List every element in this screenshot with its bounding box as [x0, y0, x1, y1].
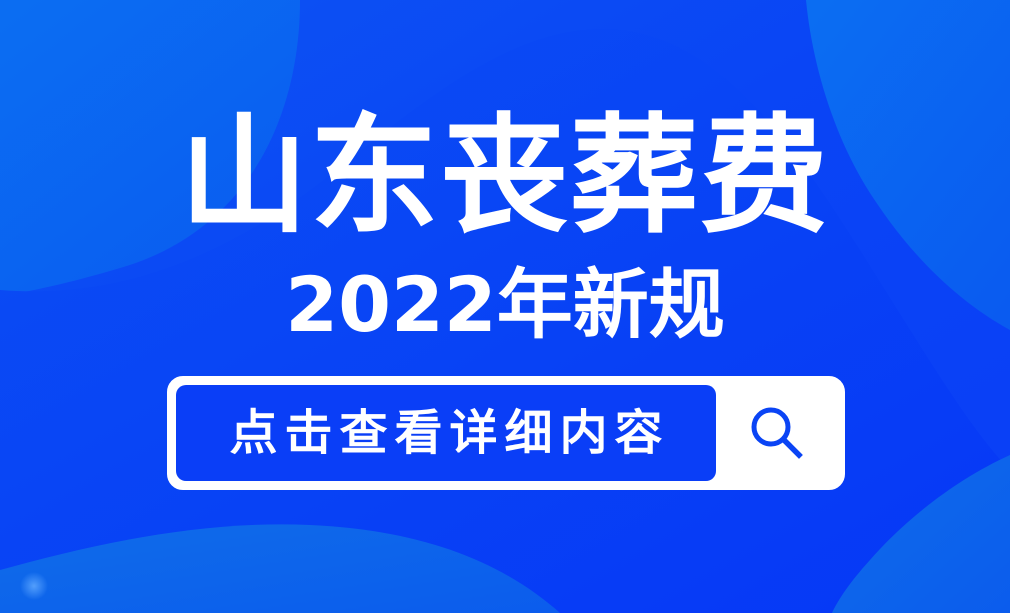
search-icon [745, 402, 807, 464]
banner-content: 山东丧葬费 2022年新规 点击查看详细内容 [0, 0, 1010, 613]
search-input[interactable]: 点击查看详细内容 [176, 385, 716, 481]
page-title: 山东丧葬费 [0, 108, 1010, 246]
search-button[interactable] [716, 385, 836, 481]
promo-banner: 山东丧葬费 2022年新规 点击查看详细内容 [0, 0, 1010, 613]
search-bar[interactable]: 点击查看详细内容 [167, 376, 845, 490]
page-subtitle: 2022年新规 [0, 262, 1010, 348]
search-input-label: 点击查看详细内容 [222, 409, 669, 457]
